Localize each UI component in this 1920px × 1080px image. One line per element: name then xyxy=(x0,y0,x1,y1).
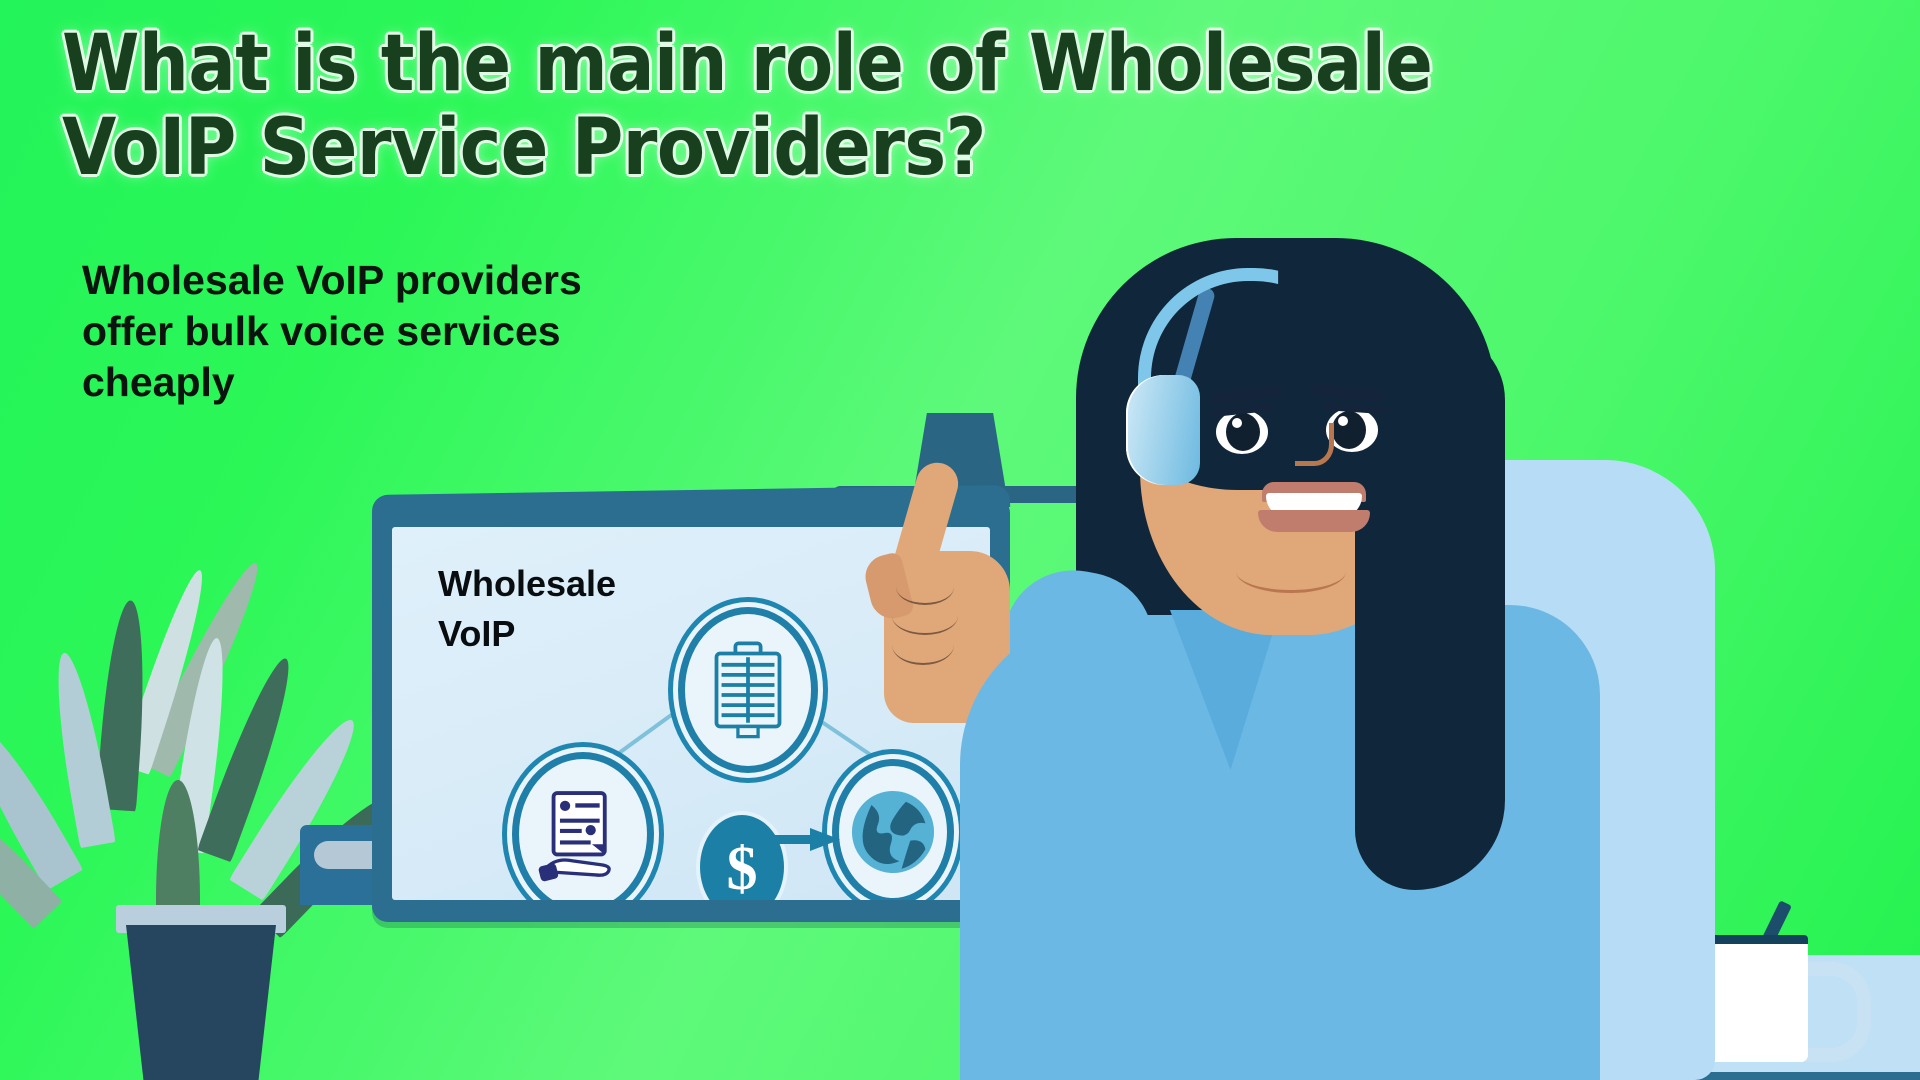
hair-front-strand xyxy=(1355,330,1505,890)
diagram-node-globe[interactable] xyxy=(832,759,954,900)
arrow-right-icon xyxy=(722,827,840,851)
plant-pot xyxy=(126,925,276,1080)
lower-lip xyxy=(1258,510,1370,532)
diagram-node-contract-hand[interactable] xyxy=(512,752,654,900)
screen-heading-line1: Wholesale xyxy=(438,559,616,609)
screen-heading: Wholesale VoIP xyxy=(438,559,616,658)
pupil-right xyxy=(1332,411,1366,449)
headphone-earcup-icon xyxy=(1126,375,1200,485)
slide-canvas: What is the main role of Wholesale VoIP … xyxy=(0,0,1920,1080)
globe-icon xyxy=(839,766,947,898)
clipboard-list-icon xyxy=(685,614,811,766)
nose xyxy=(1295,423,1334,466)
page-title: What is the main role of Wholesale VoIP … xyxy=(62,22,1482,190)
page-subtitle: Wholesale VoIP providers offer bulk voic… xyxy=(82,255,682,407)
knuckle-line xyxy=(892,625,954,665)
potted-plant xyxy=(20,540,320,1080)
chin-contour xyxy=(1236,550,1346,593)
diagram-node-clipboard[interactable] xyxy=(678,607,818,773)
document-in-hand-icon xyxy=(519,759,647,900)
screen-heading-line2: VoIP xyxy=(438,609,616,659)
headset-agent-woman xyxy=(1000,210,1920,1080)
